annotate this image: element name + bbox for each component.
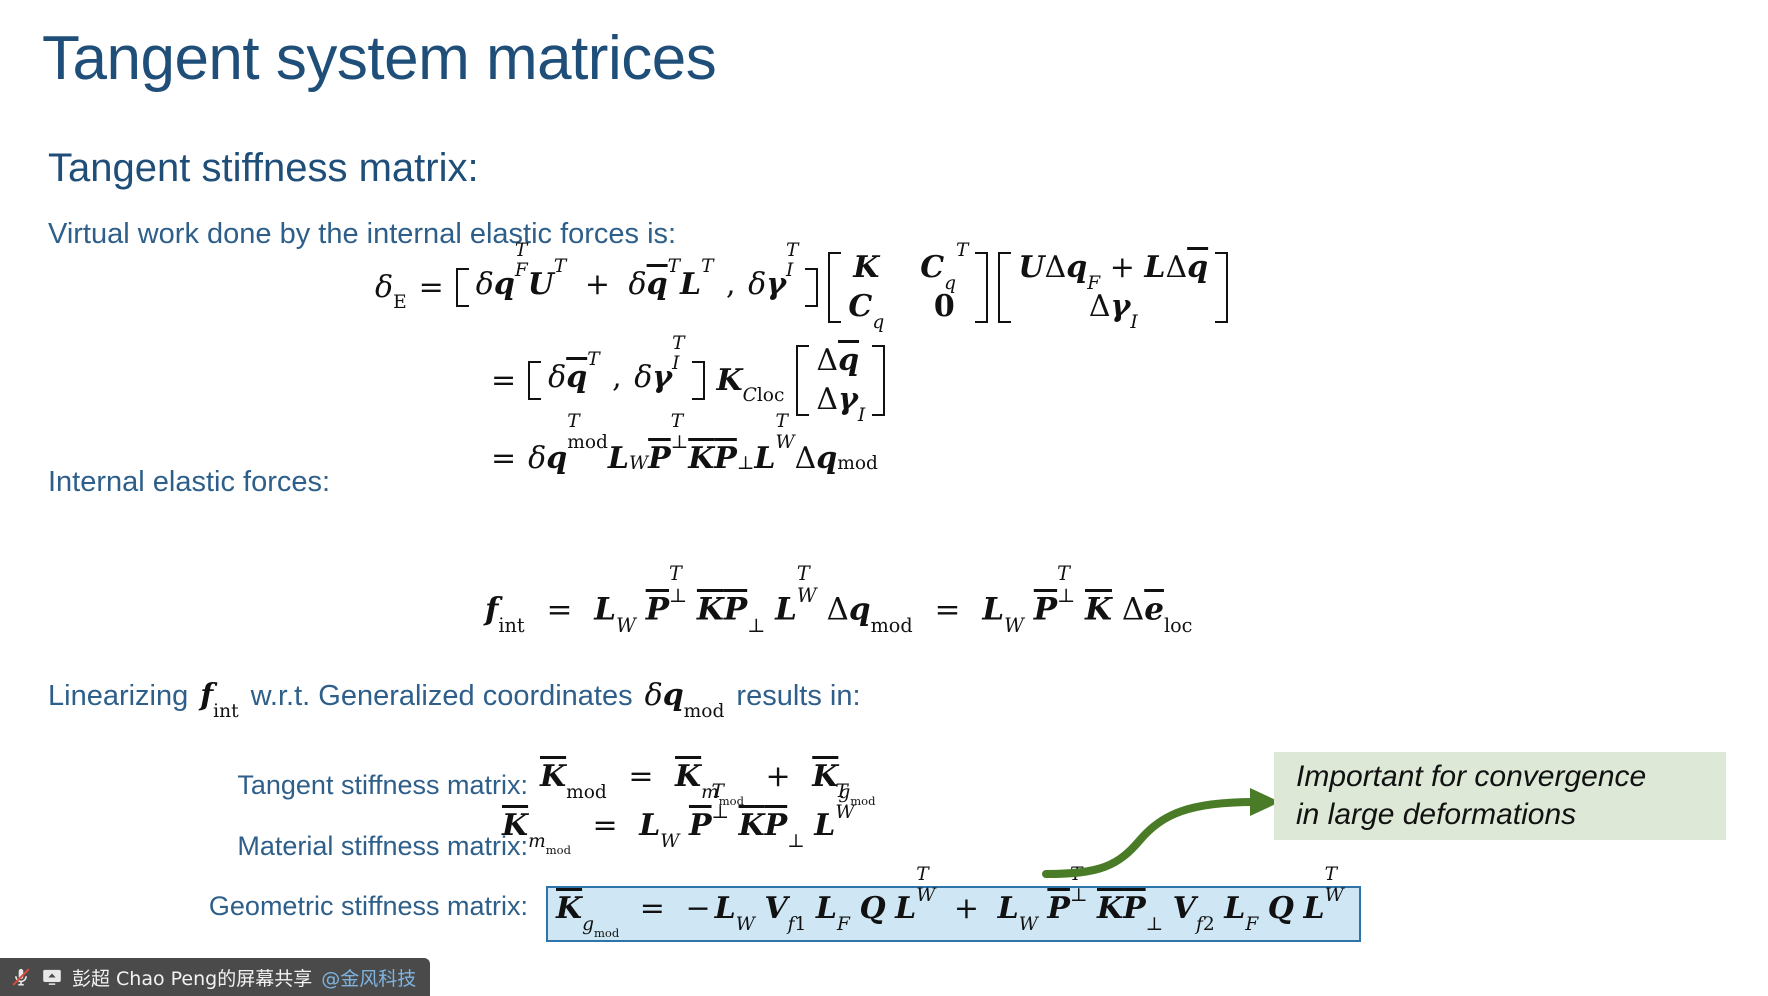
slide-canvas: Tangent system matrices Tangent stiffnes…	[0, 0, 1768, 996]
equation-geometric-stiffness: Kgmod = −LW Vf1 LF Q LTW + LW PT⊥ KP⊥ Vf…	[556, 893, 1344, 931]
equation-tangent-stiffness: Kmod = Kmmod + Kgmod	[540, 762, 875, 794]
section-heading: Tangent stiffness matrix:	[48, 146, 479, 191]
equation-virtual-work: δ𝇺E = δqTFUT + δqTLT , δγTI K CqT	[375, 252, 1228, 478]
linearizing-math-dqmod: δqmod	[645, 681, 725, 711]
linearizing-text-1: Linearizing	[48, 680, 188, 713]
linearizing-text-2: w.r.t. Generalized coordinates	[251, 680, 633, 713]
label-geometric-stiffness: Geometric stiffness matrix:	[209, 891, 528, 922]
equation-virtual-work-line2: = δqT , δγTI KCloc Δq ΔγI	[491, 345, 1228, 416]
callout-important-note: Important for convergence in large defor…	[1274, 752, 1726, 840]
linearizing-math-fint: fint	[200, 681, 238, 711]
equation-virtual-work-line3: = δqTmod LW PT⊥ KP⊥ LTW Δqmod	[491, 440, 1228, 478]
lead-virtual-work: Virtual work done by the internal elasti…	[48, 218, 676, 251]
linearizing-text-3: results in:	[736, 680, 860, 713]
callout-line-1: Important for convergence	[1296, 758, 1704, 796]
equation-internal-forces: fint = LW PT⊥ KP⊥ LTW Δqmod = LW PT⊥ K Δ…	[485, 592, 1192, 631]
equation-stiffness-group: Kmod = Kmmod + Kgmod Kmmod = LW PT⊥ KP⊥ …	[540, 762, 875, 864]
screen-share-bar[interactable]: 彭超 Chao Peng的屏幕共享 @金风科技	[0, 958, 430, 996]
label-material-stiffness: Material stiffness matrix:	[237, 831, 528, 862]
screen-share-icon[interactable]	[41, 966, 63, 988]
share-owner-text: 彭超 Chao Peng的屏幕共享	[72, 964, 312, 991]
share-org-text: @金风科技	[321, 964, 416, 991]
linearizing-statement: Linearizing fint w.r.t. Generalized coor…	[48, 680, 861, 713]
microphone-muted-icon[interactable]	[10, 966, 32, 988]
equation-material-stiffness: Kmmod = LW PT⊥ KP⊥ LTW	[502, 810, 875, 848]
equation-virtual-work-line1: δ𝇺E = δqTFUT + δqTLT , δγTI K CqT	[375, 252, 1228, 323]
lead-internal-forces: Internal elastic forces:	[48, 466, 330, 499]
page-title: Tangent system matrices	[42, 26, 716, 91]
label-tangent-stiffness: Tangent stiffness matrix:	[237, 770, 528, 801]
callout-line-2: in large deformations	[1296, 796, 1704, 834]
